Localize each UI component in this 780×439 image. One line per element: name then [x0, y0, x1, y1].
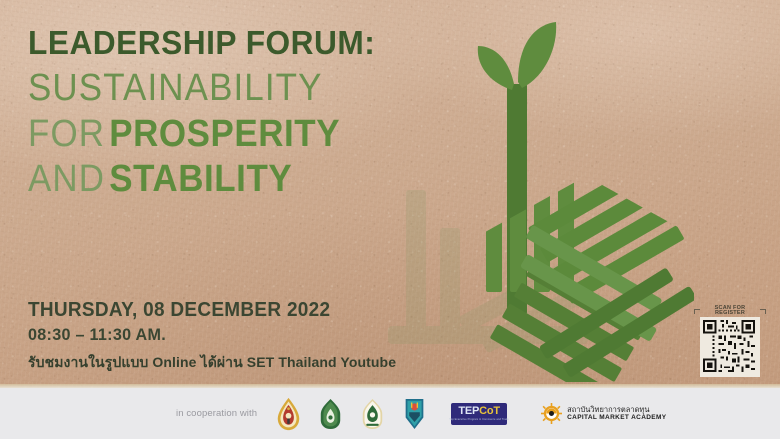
qr-register-block[interactable]: SCAN FOR REGISTER: [694, 307, 766, 379]
poster-canvas: LEADERSHIP FORUM: SUSTAINABILITY FOR PRO…: [0, 0, 780, 439]
white-gold-shield-emblem-icon: [357, 395, 387, 433]
tepcot-wordmark: TEPCoT: [458, 406, 500, 417]
cooperation-label: in cooperation with: [176, 408, 257, 419]
footer-bar: in cooperation with: [0, 388, 780, 439]
headline-line-3-bold: PROSPERITY: [109, 113, 340, 155]
event-details-block: THURSDAY, 08 DECEMBER 2022 08:30 – 11:30…: [28, 299, 428, 374]
headline-block: LEADERSHIP FORUM: SUSTAINABILITY FOR PRO…: [28, 26, 448, 201]
qr-code-icon[interactable]: [700, 317, 760, 377]
tepcot-logo: TEPCoT Top Executive Program in Commerce…: [451, 403, 507, 425]
cma-english-name: CAPITAL MARKET ACADEMY: [567, 414, 666, 421]
tepcot-cot-text: CoT: [479, 405, 500, 417]
tepcot-tep-text: TEP: [458, 405, 479, 417]
capital-market-academy-logo: สถาบันวิทยาการตลาดทุน CAPITAL MARKET ACA…: [541, 403, 666, 424]
headline-line-4-bold: STABILITY: [109, 158, 292, 200]
green-shield-emblem-icon: [315, 395, 345, 433]
partner-logo-row: TEPCoT Top Executive Program in Commerce…: [273, 395, 666, 433]
qr-label-row: SCAN FOR REGISTER: [694, 307, 766, 315]
headline-line-3-thin: FOR: [28, 113, 105, 155]
headline-line-4-thin: AND: [28, 158, 105, 200]
sustainability-emblem: [452, 22, 720, 382]
cma-text-block: สถาบันวิทยาการตลาดทุน CAPITAL MARKET ACA…: [567, 406, 666, 422]
bracket-left-icon: [694, 309, 700, 314]
event-channel: รับชมงานในรูปแบบ Online ได้ผ่าน SET Thai…: [28, 352, 428, 374]
bracket-right-icon: [760, 309, 766, 314]
headline-line-4: AND STABILITY: [28, 158, 414, 201]
qr-label-text: SCAN FOR REGISTER: [703, 306, 757, 317]
headline-line-1: LEADERSHIP FORUM:: [28, 26, 431, 60]
cma-thai-name: สถาบันวิทยาการตลาดทุน: [567, 406, 666, 414]
royal-crest-emblem-icon: [273, 395, 303, 433]
cma-sunburst-icon: [541, 403, 562, 424]
tepcot-subtitle: Top Executive Program in Commerce and Tr…: [449, 418, 509, 421]
headline-line-2: SUSTAINABILITY: [28, 67, 414, 110]
blue-teal-shield-emblem-icon: [399, 395, 429, 433]
event-time: 08:30 – 11:30 AM.: [28, 325, 408, 345]
event-date: THURSDAY, 08 DECEMBER 2022: [28, 299, 408, 322]
headline-line-3: FOR PROSPERITY: [28, 113, 414, 156]
